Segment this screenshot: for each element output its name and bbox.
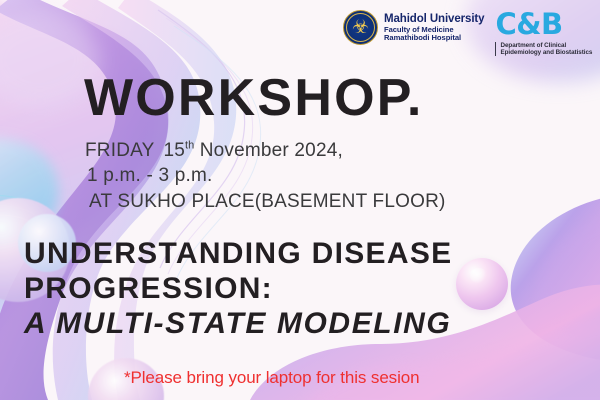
logo-row: ☣ Mahidol University Faculty of Medicine… [343, 10, 592, 56]
topic-line-3: A MULTI-STATE MODELING [24, 306, 452, 341]
ceb-subtitle-2: Epidemiology and Biostatistics [500, 49, 592, 56]
mahidol-title: Mahidol University [384, 13, 484, 25]
event-date-line: FRIDAY15th November 2024, [85, 138, 446, 163]
mahidol-logo-text: Mahidol University Faculty of Medicine R… [384, 13, 484, 42]
ceb-subtitle: Department of Clinical Epidemiology and … [495, 42, 592, 56]
ceb-subtitle-1: Department of Clinical [500, 42, 592, 49]
event-date-ordinal: th [185, 140, 194, 152]
event-date-number: 15 [163, 140, 185, 161]
event-details: FRIDAY15th November 2024, 1 p.m. - 3 p.m… [85, 138, 446, 214]
mahidol-university-logo: ☣ Mahidol University Faculty of Medicine… [343, 10, 484, 45]
event-venue: AT SUKHO PLACE(BASEMENT FLOOR) [89, 189, 446, 214]
topic-line-2: PROGRESSION: [24, 271, 452, 306]
footnote-bring-laptop: *Please bring your laptop for this sesio… [124, 368, 419, 388]
poster-content: ☣ Mahidol University Faculty of Medicine… [0, 0, 600, 400]
mahidol-crest-icon: ☣ [343, 10, 378, 45]
topic-line-1: UNDERSTANDING DISEASE [24, 236, 452, 271]
ceb-logo: C&B Department of Clinical Epidemiology … [495, 10, 592, 56]
workshop-topic: UNDERSTANDING DISEASE PROGRESSION: A MUL… [24, 236, 452, 341]
ceb-wordmark: C&B [495, 11, 592, 39]
mahidol-subtitle-2: Ramathibodi Hospital [384, 34, 484, 42]
event-day: FRIDAY [85, 140, 154, 161]
workshop-poster: ☣ Mahidol University Faculty of Medicine… [0, 0, 600, 400]
event-time: 1 p.m. - 3 p.m. [87, 163, 446, 188]
crest-glyph: ☣ [344, 11, 377, 44]
poster-headline: WORKSHOP. [84, 72, 424, 124]
event-month-year: November 2024, [200, 140, 343, 161]
